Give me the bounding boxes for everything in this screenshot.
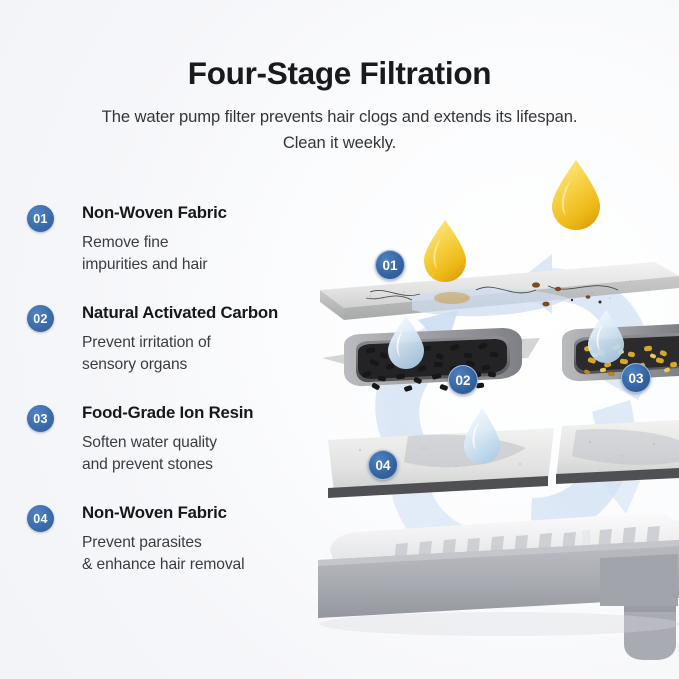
feature-item-03: 03 Food-Grade Ion Resin Soften water qua… — [27, 403, 345, 503]
infographic-canvas: Four-Stage Filtration The water pump fil… — [0, 0, 679, 679]
feature-text-03: Food-Grade Ion Resin Soften water qualit… — [27, 403, 345, 475]
filter-exploded-view-illustration — [300, 150, 679, 679]
feature-badge-01: 01 — [27, 205, 54, 232]
feature-list: 01 Non-Woven Fabric Remove fine impuriti… — [27, 203, 345, 593]
page-subtitle: The water pump filter prevents hair clog… — [80, 90, 600, 155]
feature-text-01: Non-Woven Fabric Remove fine impurities … — [27, 203, 345, 275]
illustration-badge-01: 01 — [375, 250, 405, 280]
illustration-badge-02: 02 — [448, 365, 478, 395]
illustration-badge-04: 04 — [368, 450, 398, 480]
header: Four-Stage Filtration The water pump fil… — [0, 0, 679, 156]
oil-droplet-small — [424, 220, 466, 282]
feature-text-02: Natural Activated Carbon Prevent irritat… — [27, 303, 345, 375]
feature-item-01: 01 Non-Woven Fabric Remove fine impuriti… — [27, 203, 345, 303]
feature-item-04: 04 Non-Woven Fabric Prevent parasites & … — [27, 503, 345, 593]
filter-layer-02-activated-carbon — [322, 328, 540, 392]
oil-droplet-large — [552, 160, 600, 230]
water-droplet-on-carbon — [388, 316, 424, 369]
water-droplet-on-fabric — [464, 408, 500, 464]
page-title: Four-Stage Filtration — [0, 0, 679, 90]
feature-badge-04: 04 — [27, 505, 54, 532]
feature-item-02: 02 Natural Activated Carbon Prevent irri… — [27, 303, 345, 403]
feature-badge-02: 02 — [27, 305, 54, 332]
feature-text-04: Non-Woven Fabric Prevent parasites & enh… — [27, 503, 345, 575]
pump-housing-base — [318, 512, 679, 660]
illustration-badge-03: 03 — [621, 363, 651, 393]
feature-badge-03: 03 — [27, 405, 54, 432]
